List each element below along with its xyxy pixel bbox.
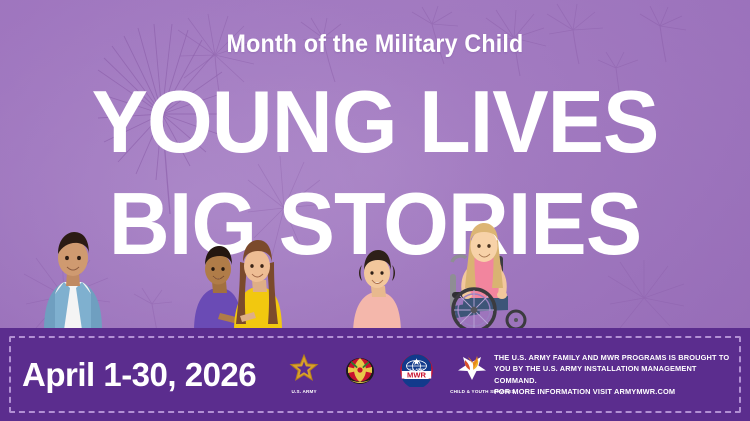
- cys-logo-caption: CHILD & YOUTH SERVICES: [450, 389, 494, 395]
- disclaimer-text: THE U.S. ARMY FAMILY AND MWR PROGRAMS IS…: [494, 352, 739, 397]
- month-of-military-child-banner: Month of the Military Child YOUNG LIVES …: [0, 0, 750, 421]
- disclaimer-line-1: THE U.S. ARMY FAMILY AND MWR PROGRAMS IS…: [494, 352, 739, 363]
- imcom-crest-logo: [338, 354, 382, 393]
- headline-word-big: BIG: [109, 174, 256, 273]
- star-icon: [289, 354, 319, 383]
- army-mwr-logo: U.S. ARMY MWR: [394, 354, 438, 393]
- event-date-text: April 1-30, 2026: [22, 356, 256, 394]
- cys-star-flame-icon: [454, 354, 490, 383]
- page-title-eyebrow: Month of the Military Child: [26, 30, 724, 59]
- disclaimer-line-3: FOR MORE INFORMATION VISIT ARMYMWR.COM: [494, 386, 739, 397]
- mwr-main-text: MWR: [407, 371, 426, 380]
- headline-line-2: BIG STORIES: [15, 186, 735, 262]
- disclaimer-line-2: YOU BY THE U.S. ARMY INSTALLATION MANAGE…: [494, 363, 739, 386]
- us-army-logo-caption: U.S. ARMY: [282, 389, 326, 395]
- crest-icon: [344, 354, 376, 387]
- mwr-globe-icon: U.S. ARMY MWR: [400, 354, 433, 387]
- logo-row: U.S. ARMY: [282, 354, 494, 395]
- headline-line-1: YOUNG LIVES: [15, 84, 735, 160]
- footer-bar: April 1-30, 2026 U.S. ARMY: [0, 328, 750, 421]
- us-army-star-logo: U.S. ARMY: [282, 354, 326, 395]
- headline-word-stories: STORIES: [279, 174, 642, 273]
- child-youth-services-logo: CHILD & YOUTH SERVICES: [450, 354, 494, 395]
